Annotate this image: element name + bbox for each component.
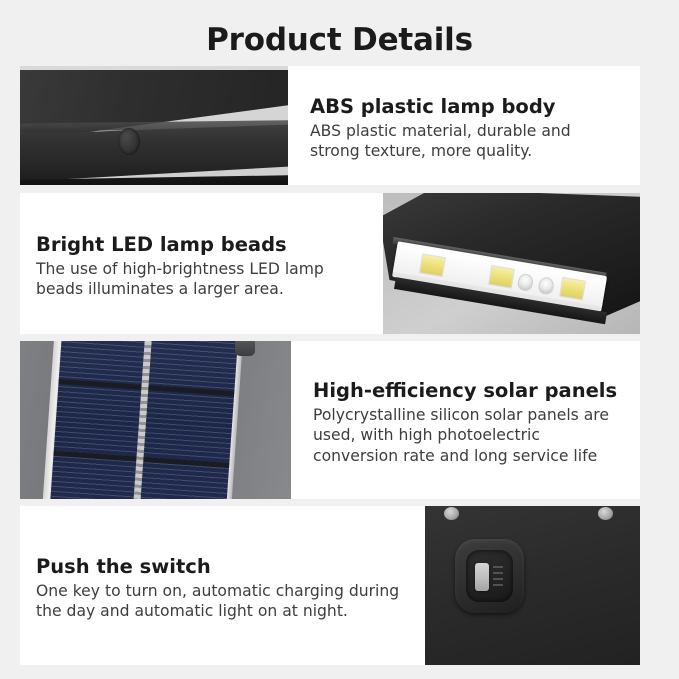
- led-chip: [419, 253, 446, 277]
- feature-heading: High-efficiency solar panels: [313, 378, 624, 403]
- feature-body: One key to turn on, automatic charging d…: [36, 581, 409, 622]
- feature-row-push-the-switch: Push the switch One key to turn on, auto…: [20, 506, 640, 665]
- feature-heading: Push the switch: [36, 554, 409, 579]
- screw-icon: [444, 507, 459, 520]
- switch-recess: [466, 550, 513, 602]
- led-chip: [488, 265, 515, 289]
- feature-body: Polycrystalline silicon solar panels are…: [313, 405, 624, 467]
- feature-text-bright-led-lamp-beads: Bright LED lamp beads The use of high-br…: [20, 193, 383, 334]
- product-details-page: Product Details ABS plastic lamp body AB…: [0, 0, 679, 679]
- page-title: Product Details: [0, 18, 679, 62]
- solar-panel-cells: [50, 341, 239, 499]
- screw-icon: [598, 507, 613, 520]
- switch-housing: [455, 539, 524, 613]
- lamp-body-image: [20, 66, 288, 185]
- push-switch-image: [425, 506, 640, 665]
- feature-text-high-efficiency-solar-panels: High-efficiency solar panels Polycrystal…: [291, 341, 640, 499]
- feature-body: The use of high-brightness LED lamp bead…: [36, 259, 367, 300]
- led-lamp-beads-image: [383, 193, 640, 334]
- feature-row-abs-plastic-lamp-body: ABS plastic lamp body ABS plastic materi…: [20, 66, 640, 185]
- switch-label-mark: [493, 566, 503, 588]
- feature-body: ABS plastic material, durable and strong…: [310, 121, 624, 162]
- feature-text-push-the-switch: Push the switch One key to turn on, auto…: [20, 506, 425, 665]
- feature-heading: ABS plastic lamp body: [310, 94, 624, 119]
- solar-panel-knob: [235, 341, 255, 356]
- push-switch-button: [475, 563, 489, 591]
- led-chip: [559, 277, 586, 301]
- feature-row-bright-led-lamp-beads: Bright LED lamp beads The use of high-br…: [20, 193, 640, 334]
- feature-text-abs-plastic-lamp-body: ABS plastic lamp body ABS plastic materi…: [288, 66, 640, 185]
- feature-heading: Bright LED lamp beads: [36, 232, 367, 257]
- solar-panel-image: [20, 341, 291, 499]
- lamp-body-dimple: [118, 128, 140, 155]
- feature-row-high-efficiency-solar-panels: High-efficiency solar panels Polycrystal…: [20, 341, 640, 499]
